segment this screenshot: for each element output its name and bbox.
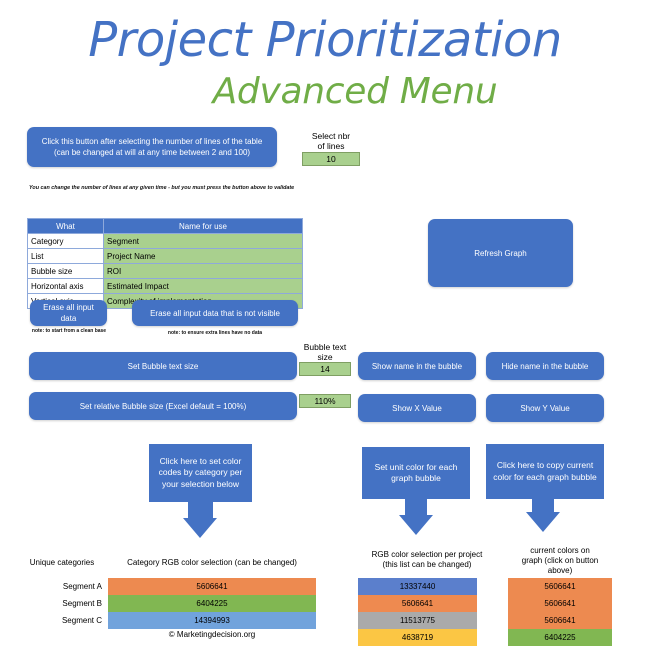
project-color-cell-3[interactable]: 4638719 — [358, 629, 477, 646]
table-row: 14394993 — [108, 612, 316, 629]
table-row: Horizontal axis Estimated Impact — [28, 279, 303, 294]
mapping-table: What Name for use Category Segment List … — [27, 218, 303, 309]
copy-current-color-label: Click here to copy current color for eac… — [491, 460, 599, 483]
advanced-menu-page: Project Prioritization Advanced Menu Cli… — [0, 0, 650, 650]
project-rgb-header-line2: (this list can be changed) — [337, 560, 517, 570]
category-color-cell-1[interactable]: 6404225 — [108, 595, 316, 612]
current-colors-header-line3: above) — [505, 566, 615, 576]
set-relative-bubble-size-label: Set relative Bubble size (Excel default … — [80, 401, 247, 412]
current-colors-header: current colors on graph (click on button… — [505, 546, 615, 576]
copy-current-color-button[interactable]: Click here to copy current color for eac… — [486, 444, 604, 499]
select-lines-label: Select nbr of lines — [300, 131, 362, 151]
current-color-table: 5606641 5606641 5606641 6404225 — [508, 578, 612, 646]
table-row: 5606641 — [358, 595, 477, 612]
arrow-down-icon-unit — [399, 515, 433, 535]
set-color-by-category-button[interactable]: Click here to set color codes by categor… — [149, 444, 252, 502]
table-row: Category Segment — [28, 234, 303, 249]
erase-all-note: note: to start from a clean base — [27, 328, 111, 335]
table-row: Bubble size ROI — [28, 264, 303, 279]
current-color-cell-0: 5606641 — [508, 578, 612, 595]
table-row: 6404225 — [108, 595, 316, 612]
show-name-in-bubble-label: Show name in the bubble — [372, 361, 462, 372]
mapping-what-1: List — [28, 249, 104, 264]
arrow-down-icon-category-stem — [188, 502, 213, 518]
arrow-down-icon-copy-stem — [532, 499, 554, 512]
page-title: Project Prioritization — [0, 14, 650, 66]
erase-hidden-note: note: to ensure extra lines have no data — [132, 330, 298, 337]
current-colors-header-line1: current colors on — [505, 546, 615, 556]
table-row: 5606641 — [108, 578, 316, 595]
bubble-text-size-input[interactable]: 14 — [299, 362, 351, 376]
select-lines-label-line1: Select nbr — [300, 131, 362, 141]
set-color-by-category-label: Click here to set color codes by categor… — [154, 456, 247, 491]
mapping-name-1[interactable]: Project Name — [104, 249, 303, 264]
table-row: 5606641 — [508, 578, 612, 595]
set-bubble-text-size-button[interactable]: Set Bubble text size — [29, 352, 297, 380]
project-color-table: 13337440 5606641 11513775 4638719 — [358, 578, 477, 646]
bubble-text-size-label-line1: Bubble text — [297, 342, 353, 352]
category-color-cell-0[interactable]: 5606641 — [108, 578, 316, 595]
table-row: 6404225 — [508, 629, 612, 646]
table-row: 5606641 — [508, 595, 612, 612]
erase-hidden-input-data-button[interactable]: Erase all input data that is not visible — [132, 300, 298, 326]
table-row: 5606641 — [508, 612, 612, 629]
hide-name-in-bubble-label: Hide name in the bubble — [502, 361, 589, 372]
hide-name-in-bubble-button[interactable]: Hide name in the bubble — [486, 352, 604, 380]
category-color-table: 5606641 6404225 14394993 — [108, 578, 316, 629]
page-subtitle: Advanced Menu — [0, 72, 650, 112]
set-number-of-lines-button[interactable]: Click this button after selecting the nu… — [27, 127, 277, 167]
mapping-name-3[interactable]: Estimated Impact — [104, 279, 303, 294]
set-unit-color-button[interactable]: Set unit color for each graph bubble — [362, 447, 470, 499]
mapping-header-name: Name for use — [104, 219, 303, 234]
copyright-notice: © Marketingdecision.org — [108, 630, 316, 639]
select-lines-input[interactable]: 10 — [302, 152, 360, 166]
arrow-down-icon-category — [183, 518, 217, 538]
erase-all-input-data-button[interactable]: Erase all input data — [30, 300, 107, 326]
mapping-what-0: Category — [28, 234, 104, 249]
project-rgb-header: RGB color selection per project (this li… — [337, 550, 517, 570]
current-color-cell-3: 6404225 — [508, 629, 612, 646]
mapping-what-2: Bubble size — [28, 264, 104, 279]
set-relative-bubble-size-button[interactable]: Set relative Bubble size (Excel default … — [29, 392, 297, 420]
project-color-cell-0[interactable]: 13337440 — [358, 578, 477, 595]
unique-categories-header: Unique categories — [22, 558, 102, 568]
show-y-value-label: Show Y Value — [520, 403, 569, 414]
mapping-what-3: Horizontal axis — [28, 279, 104, 294]
mapping-name-2[interactable]: ROI — [104, 264, 303, 279]
show-name-in-bubble-button[interactable]: Show name in the bubble — [358, 352, 476, 380]
show-x-value-button[interactable]: Show X Value — [358, 394, 476, 422]
category-label-2: Segment C — [22, 612, 102, 629]
arrow-down-icon-copy — [526, 512, 560, 532]
mapping-name-0[interactable]: Segment — [104, 234, 303, 249]
mapping-table-header-row: What Name for use — [28, 219, 303, 234]
project-color-cell-1[interactable]: 5606641 — [358, 595, 477, 612]
refresh-graph-button-label: Refresh Graph — [474, 248, 526, 259]
relative-bubble-size-input[interactable]: 110% — [299, 394, 351, 408]
erase-hidden-input-data-label: Erase all input data that is not visible — [150, 308, 280, 319]
lines-note: You can change the number of lines at an… — [29, 185, 339, 192]
select-lines-label-line2: of lines — [300, 141, 362, 151]
set-bubble-text-size-label: Set Bubble text size — [128, 361, 199, 372]
table-row: 11513775 — [358, 612, 477, 629]
category-label-1: Segment B — [22, 595, 102, 612]
category-rgb-header: Category RGB color selection (can be cha… — [108, 558, 316, 568]
project-color-cell-2[interactable]: 11513775 — [358, 612, 477, 629]
set-number-of-lines-button-label: Click this button after selecting the nu… — [33, 136, 271, 158]
erase-all-input-data-label: Erase all input data — [36, 302, 101, 324]
table-row: 4638719 — [358, 629, 477, 646]
category-label-0: Segment A — [22, 578, 102, 595]
table-row: List Project Name — [28, 249, 303, 264]
table-row: 13337440 — [358, 578, 477, 595]
current-color-cell-2: 5606641 — [508, 612, 612, 629]
show-y-value-button[interactable]: Show Y Value — [486, 394, 604, 422]
arrow-down-icon-unit-stem — [405, 499, 427, 515]
show-x-value-label: Show X Value — [392, 403, 442, 414]
set-unit-color-label: Set unit color for each graph bubble — [367, 462, 465, 485]
refresh-graph-button[interactable]: Refresh Graph — [428, 219, 573, 287]
bubble-text-size-label: Bubble text size — [297, 342, 353, 362]
category-color-cell-2[interactable]: 14394993 — [108, 612, 316, 629]
bubble-text-size-label-line2: size — [297, 352, 353, 362]
project-rgb-header-line1: RGB color selection per project — [337, 550, 517, 560]
current-colors-header-line2: graph (click on button — [505, 556, 615, 566]
mapping-header-what: What — [28, 219, 104, 234]
current-color-cell-1: 5606641 — [508, 595, 612, 612]
